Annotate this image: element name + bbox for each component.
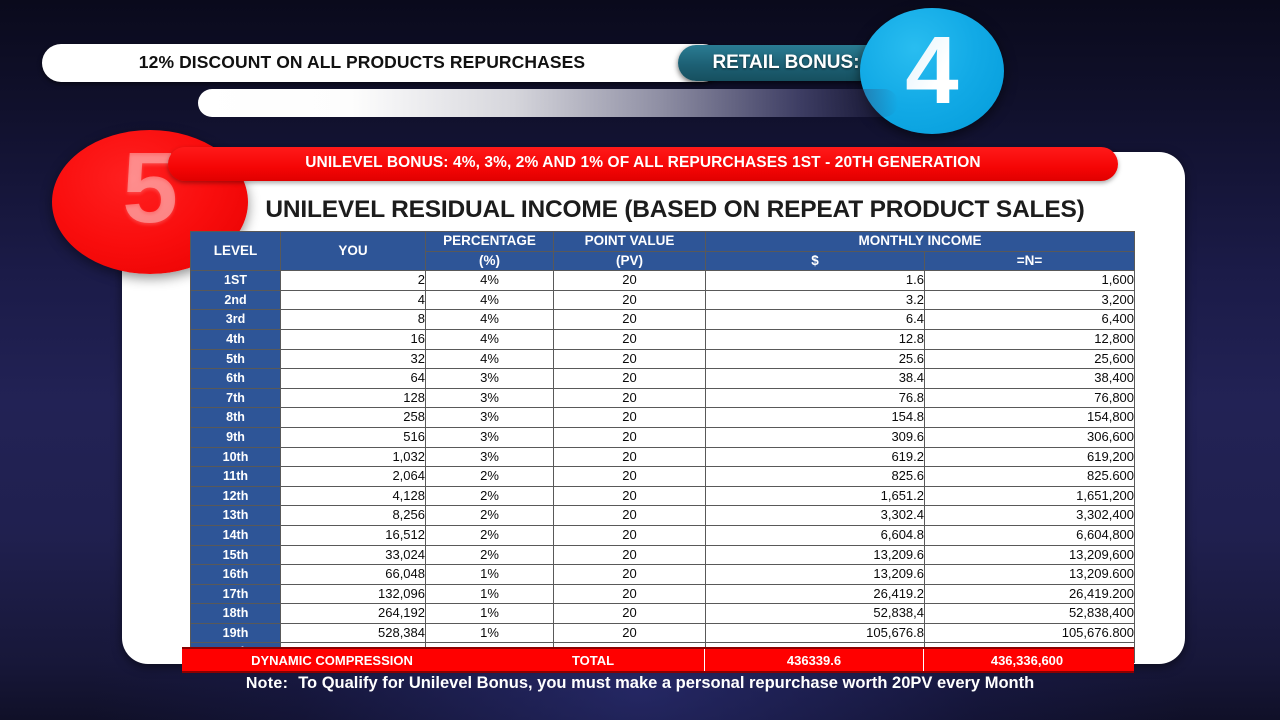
cell-level: 6th bbox=[191, 369, 281, 389]
cell-you: 128 bbox=[281, 388, 426, 408]
table-header-row-1: LEVEL YOU PERCENTAGE POINT VALUE MONTHLY… bbox=[191, 232, 1135, 252]
cell-you: 33,024 bbox=[281, 545, 426, 565]
col-header-percentage: PERCENTAGE bbox=[426, 232, 554, 252]
table-row: 11th2,0642%20825.6825.600 bbox=[191, 467, 1135, 487]
col-header-you: YOU bbox=[281, 232, 426, 271]
cell-you: 516 bbox=[281, 427, 426, 447]
cell-monthly-usd: 3.2 bbox=[706, 290, 925, 310]
total-naira-value: 436,336,600 bbox=[924, 653, 1130, 668]
cell-monthly-usd: 154.8 bbox=[706, 408, 925, 428]
cell-percentage: 2% bbox=[426, 506, 554, 526]
table-row: 19th528,3841%20105,676.8105,676.800 bbox=[191, 623, 1135, 643]
table-row: 7th1283%2076.876,800 bbox=[191, 388, 1135, 408]
cell-point-value: 20 bbox=[554, 271, 706, 291]
slide-canvas: 12% DISCOUNT ON ALL PRODUCTS REPURCHASES… bbox=[0, 0, 1280, 720]
cell-level: 14th bbox=[191, 525, 281, 545]
cell-monthly-usd: 309.6 bbox=[706, 427, 925, 447]
cell-you: 264,192 bbox=[281, 604, 426, 624]
note-text: To Qualify for Unilevel Bonus, you must … bbox=[298, 674, 1034, 692]
cell-point-value: 20 bbox=[554, 604, 706, 624]
cell-monthly-usd: 26,419.2 bbox=[706, 584, 925, 604]
cell-percentage: 2% bbox=[426, 486, 554, 506]
cell-point-value: 20 bbox=[554, 623, 706, 643]
cell-monthly-usd: 3,302.4 bbox=[706, 506, 925, 526]
cell-you: 2 bbox=[281, 271, 426, 291]
cell-monthly-usd: 76.8 bbox=[706, 388, 925, 408]
cell-you: 66,048 bbox=[281, 565, 426, 585]
cell-you: 132,096 bbox=[281, 584, 426, 604]
table-row: 3rd84%206.46,400 bbox=[191, 310, 1135, 330]
col-header-point-value-unit: (PV) bbox=[554, 251, 706, 271]
cell-level: 19th bbox=[191, 623, 281, 643]
cell-monthly-usd: 13,209.6 bbox=[706, 565, 925, 585]
cell-monthly-usd: 1,651.2 bbox=[706, 486, 925, 506]
cell-level: 2nd bbox=[191, 290, 281, 310]
cell-percentage: 4% bbox=[426, 349, 554, 369]
cell-percentage: 4% bbox=[426, 290, 554, 310]
cell-percentage: 1% bbox=[426, 584, 554, 604]
cell-level: 18th bbox=[191, 604, 281, 624]
cell-level: 1ST bbox=[191, 271, 281, 291]
unilevel-banner-text: UNILEVEL BONUS: 4%, 3%, 2% AND 1% OF ALL… bbox=[168, 154, 1118, 172]
cell-level: 3rd bbox=[191, 310, 281, 330]
page-title: UNILEVEL RESIDUAL INCOME (BASED ON REPEA… bbox=[180, 196, 1170, 224]
cell-level: 8th bbox=[191, 408, 281, 428]
cell-you: 8,256 bbox=[281, 506, 426, 526]
cell-point-value: 20 bbox=[554, 584, 706, 604]
cell-point-value: 20 bbox=[554, 290, 706, 310]
cell-you: 16,512 bbox=[281, 525, 426, 545]
cell-you: 258 bbox=[281, 408, 426, 428]
table-row: 18th264,1921%2052,838,452,838,400 bbox=[191, 604, 1135, 624]
cell-monthly-usd: 12.8 bbox=[706, 329, 925, 349]
cell-monthly-usd: 13,209.6 bbox=[706, 545, 925, 565]
cell-monthly-naira: 154,800 bbox=[925, 408, 1135, 428]
cell-point-value: 20 bbox=[554, 506, 706, 526]
unilevel-income-table: LEVEL YOU PERCENTAGE POINT VALUE MONTHLY… bbox=[190, 231, 1135, 663]
discount-text: 12% DISCOUNT ON ALL PRODUCTS REPURCHASES bbox=[52, 52, 672, 73]
cell-monthly-naira: 12,800 bbox=[925, 329, 1135, 349]
table-total-row: DYNAMIC COMPRESSION TOTAL 436339.6 436,3… bbox=[182, 647, 1134, 673]
col-header-point-value: POINT VALUE bbox=[554, 232, 706, 252]
cell-level: 11th bbox=[191, 467, 281, 487]
cell-monthly-usd: 825.6 bbox=[706, 467, 925, 487]
cell-level: 13th bbox=[191, 506, 281, 526]
cell-point-value: 20 bbox=[554, 467, 706, 487]
cell-monthly-usd: 619.2 bbox=[706, 447, 925, 467]
cell-monthly-usd: 38.4 bbox=[706, 369, 925, 389]
cell-level: 15th bbox=[191, 545, 281, 565]
table-row: 14th16,5122%206,604.86,604,800 bbox=[191, 525, 1135, 545]
cell-monthly-naira: 6,400 bbox=[925, 310, 1135, 330]
cell-level: 16th bbox=[191, 565, 281, 585]
cell-percentage: 3% bbox=[426, 447, 554, 467]
table-row: 1ST24%201.61,600 bbox=[191, 271, 1135, 291]
cell-percentage: 3% bbox=[426, 408, 554, 428]
cell-point-value: 20 bbox=[554, 388, 706, 408]
cell-monthly-naira: 6,604,800 bbox=[925, 525, 1135, 545]
cell-you: 1,032 bbox=[281, 447, 426, 467]
cell-monthly-naira: 1,651,200 bbox=[925, 486, 1135, 506]
total-label: TOTAL bbox=[482, 653, 704, 668]
cell-you: 528,384 bbox=[281, 623, 426, 643]
cell-level: 4th bbox=[191, 329, 281, 349]
cell-monthly-naira: 13,209,600 bbox=[925, 545, 1135, 565]
cell-percentage: 1% bbox=[426, 623, 554, 643]
col-header-percentage-unit: (%) bbox=[426, 251, 554, 271]
cell-level: 12th bbox=[191, 486, 281, 506]
cell-percentage: 2% bbox=[426, 545, 554, 565]
cell-level: 9th bbox=[191, 427, 281, 447]
table-row: 10th1,0323%20619.2619,200 bbox=[191, 447, 1135, 467]
cell-point-value: 20 bbox=[554, 447, 706, 467]
step-number-5: 5 bbox=[95, 128, 205, 248]
col-header-naira: =N= bbox=[925, 251, 1135, 271]
cell-you: 4 bbox=[281, 290, 426, 310]
cell-point-value: 20 bbox=[554, 486, 706, 506]
cell-percentage: 1% bbox=[426, 565, 554, 585]
decorative-fade-bar bbox=[198, 89, 898, 117]
col-header-monthly-income: MONTHLY INCOME bbox=[706, 232, 1135, 252]
cell-you: 32 bbox=[281, 349, 426, 369]
cell-point-value: 20 bbox=[554, 545, 706, 565]
cell-level: 5th bbox=[191, 349, 281, 369]
cell-monthly-naira: 76,800 bbox=[925, 388, 1135, 408]
cell-percentage: 4% bbox=[426, 271, 554, 291]
table-row: 5th324%2025.625,600 bbox=[191, 349, 1135, 369]
footer-note: Note:To Qualify for Unilevel Bonus, you … bbox=[0, 674, 1280, 693]
cell-level: 7th bbox=[191, 388, 281, 408]
cell-monthly-naira: 619,200 bbox=[925, 447, 1135, 467]
cell-level: 10th bbox=[191, 447, 281, 467]
table-row: 2nd44%203.23,200 bbox=[191, 290, 1135, 310]
table-row: 17th132,0961%2026,419.226,419.200 bbox=[191, 584, 1135, 604]
cell-percentage: 3% bbox=[426, 388, 554, 408]
cell-point-value: 20 bbox=[554, 427, 706, 447]
table-row: 12th4,1282%201,651.21,651,200 bbox=[191, 486, 1135, 506]
cell-monthly-naira: 52,838,400 bbox=[925, 604, 1135, 624]
cell-monthly-naira: 3,200 bbox=[925, 290, 1135, 310]
cell-monthly-naira: 38,400 bbox=[925, 369, 1135, 389]
cell-point-value: 20 bbox=[554, 408, 706, 428]
table-row: 16th66,0481%2013,209.613,209.600 bbox=[191, 565, 1135, 585]
cell-level: 17th bbox=[191, 584, 281, 604]
cell-monthly-naira: 25,600 bbox=[925, 349, 1135, 369]
table-head: LEVEL YOU PERCENTAGE POINT VALUE MONTHLY… bbox=[191, 232, 1135, 271]
cell-point-value: 20 bbox=[554, 329, 706, 349]
cell-point-value: 20 bbox=[554, 310, 706, 330]
cell-percentage: 1% bbox=[426, 604, 554, 624]
cell-you: 4,128 bbox=[281, 486, 426, 506]
cell-monthly-naira: 3,302,400 bbox=[925, 506, 1135, 526]
table-row: 13th8,2562%203,302.43,302,400 bbox=[191, 506, 1135, 526]
table-row: 15th33,0242%2013,209.613,209,600 bbox=[191, 545, 1135, 565]
cell-you: 8 bbox=[281, 310, 426, 330]
cell-percentage: 3% bbox=[426, 427, 554, 447]
cell-you: 16 bbox=[281, 329, 426, 349]
cell-monthly-naira: 13,209.600 bbox=[925, 565, 1135, 585]
col-header-level: LEVEL bbox=[191, 232, 281, 271]
cell-monthly-naira: 26,419.200 bbox=[925, 584, 1135, 604]
cell-monthly-usd: 6,604.8 bbox=[706, 525, 925, 545]
cell-monthly-naira: 105,676.800 bbox=[925, 623, 1135, 643]
unilevel-income-table-wrapper: LEVEL YOU PERCENTAGE POINT VALUE MONTHLY… bbox=[190, 231, 1134, 663]
cell-point-value: 20 bbox=[554, 565, 706, 585]
table-row: 8th2583%20154.8154,800 bbox=[191, 408, 1135, 428]
note-label: Note: bbox=[246, 675, 288, 692]
cell-percentage: 2% bbox=[426, 467, 554, 487]
cell-percentage: 2% bbox=[426, 525, 554, 545]
table-row: 4th164%2012.812,800 bbox=[191, 329, 1135, 349]
cell-you: 64 bbox=[281, 369, 426, 389]
table-row: 9th5163%20309.6306,600 bbox=[191, 427, 1135, 447]
total-usd-value: 436339.6 bbox=[705, 653, 923, 668]
cell-monthly-naira: 825.600 bbox=[925, 467, 1135, 487]
cell-percentage: 4% bbox=[426, 329, 554, 349]
table-row: 6th643%2038.438,400 bbox=[191, 369, 1135, 389]
cell-monthly-naira: 306,600 bbox=[925, 427, 1135, 447]
cell-monthly-usd: 52,838,4 bbox=[706, 604, 925, 624]
cell-monthly-naira: 1,600 bbox=[925, 271, 1135, 291]
cell-point-value: 20 bbox=[554, 369, 706, 389]
cell-point-value: 20 bbox=[554, 349, 706, 369]
cell-monthly-usd: 105,676.8 bbox=[706, 623, 925, 643]
cell-monthly-usd: 6.4 bbox=[706, 310, 925, 330]
table-body: 1ST24%201.61,6002nd44%203.23,2003rd84%20… bbox=[191, 271, 1135, 663]
col-header-dollar: $ bbox=[706, 251, 925, 271]
cell-point-value: 20 bbox=[554, 525, 706, 545]
cell-monthly-usd: 25.6 bbox=[706, 349, 925, 369]
cell-monthly-usd: 1.6 bbox=[706, 271, 925, 291]
cell-percentage: 4% bbox=[426, 310, 554, 330]
cell-percentage: 3% bbox=[426, 369, 554, 389]
cell-you: 2,064 bbox=[281, 467, 426, 487]
dynamic-compression-label: DYNAMIC COMPRESSION bbox=[182, 653, 482, 668]
